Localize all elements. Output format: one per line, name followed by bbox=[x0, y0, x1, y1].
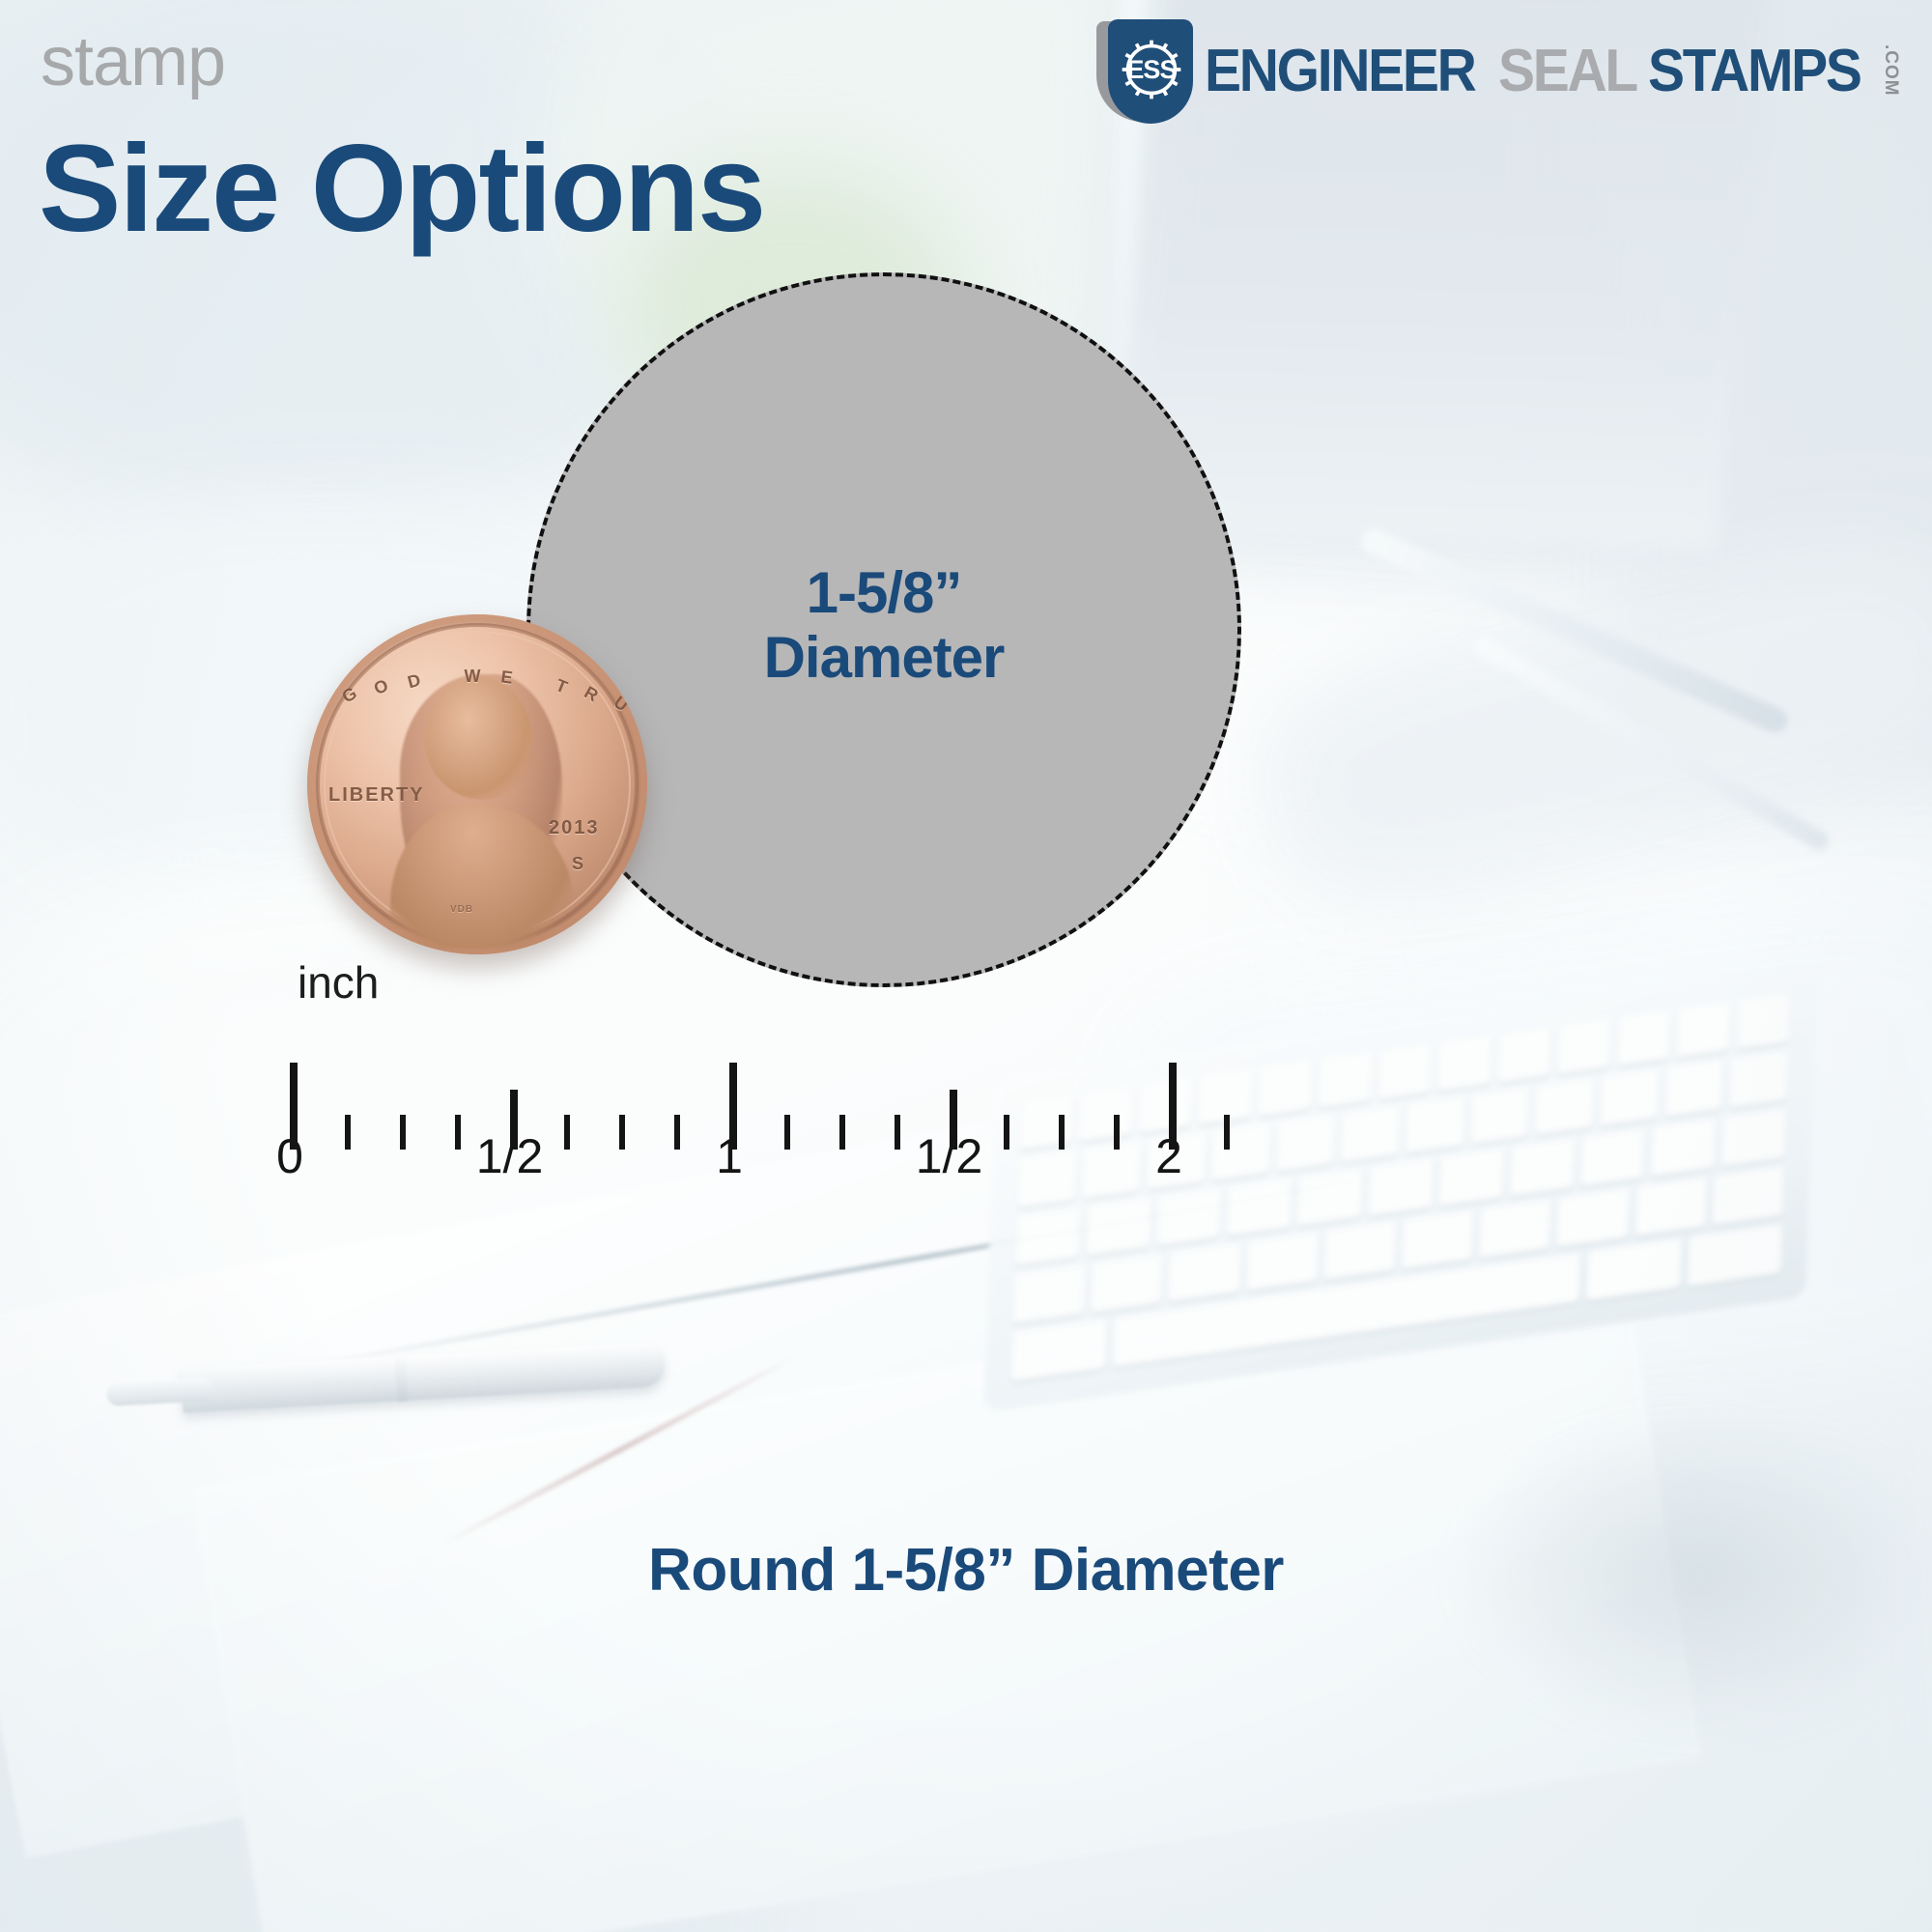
ruler-tick bbox=[784, 1115, 790, 1150]
ruler-tick bbox=[1114, 1115, 1120, 1150]
ruler-tick bbox=[564, 1115, 570, 1150]
caption-text: Round 1-5/8” Diameter bbox=[0, 1536, 1932, 1605]
ruler-tick bbox=[400, 1115, 406, 1150]
ruler-tick bbox=[1224, 1115, 1230, 1150]
ruler: inch 01/211/22 bbox=[290, 1014, 1256, 1207]
coin-liberty: LIBERTY bbox=[328, 784, 425, 807]
ruler-label: 2 bbox=[1155, 1128, 1182, 1184]
coin-designer-initials: VDB bbox=[450, 904, 473, 915]
ess-monogram: ESS bbox=[1116, 29, 1187, 110]
ruler-tick bbox=[619, 1115, 625, 1150]
ruler-tick bbox=[674, 1115, 680, 1150]
ruler-tick bbox=[839, 1115, 845, 1150]
ruler-tick bbox=[455, 1115, 461, 1150]
coin-year: 2013 bbox=[549, 817, 600, 839]
ruler-tick bbox=[345, 1115, 351, 1150]
brand-logo[interactable]: ESS ENGINEER SEAL STAMPS .COM bbox=[1091, 17, 1899, 126]
ruler-label: 1 bbox=[716, 1128, 743, 1184]
ruler-tick bbox=[895, 1115, 900, 1150]
logo-tld: .COM bbox=[1883, 44, 1899, 97]
size-label: 1-5/8” Diameter bbox=[526, 560, 1241, 690]
size-label-line1: 1-5/8” bbox=[807, 560, 962, 625]
ruler-unit-label: inch bbox=[298, 956, 379, 1009]
ruler-tick bbox=[1004, 1115, 1009, 1150]
penny-coin: IN GOD WE TRUST LIBERTY 2013 S VDB bbox=[307, 614, 647, 954]
ruler-label: 0 bbox=[276, 1128, 303, 1184]
coin-motto: IN GOD WE TRUST bbox=[344, 670, 611, 691]
eyebrow-label: stamp bbox=[41, 27, 225, 97]
logo-word-engineer: ENGINEER bbox=[1205, 44, 1475, 99]
ruler-label: 1/2 bbox=[916, 1128, 983, 1184]
size-options-graphic: stamp Size Options bbox=[0, 0, 1932, 1932]
ruler-tick bbox=[1059, 1115, 1065, 1150]
size-label-line2: Diameter bbox=[526, 625, 1241, 690]
page-title: Size Options bbox=[39, 128, 764, 251]
ess-emblem-icon: ESS bbox=[1091, 17, 1195, 126]
coin-mint-mark: S bbox=[572, 854, 585, 874]
ruler-label: 1/2 bbox=[476, 1128, 544, 1184]
logo-word-stamps: STAMPS bbox=[1648, 44, 1861, 99]
logo-word-seal: SEAL bbox=[1498, 44, 1636, 99]
